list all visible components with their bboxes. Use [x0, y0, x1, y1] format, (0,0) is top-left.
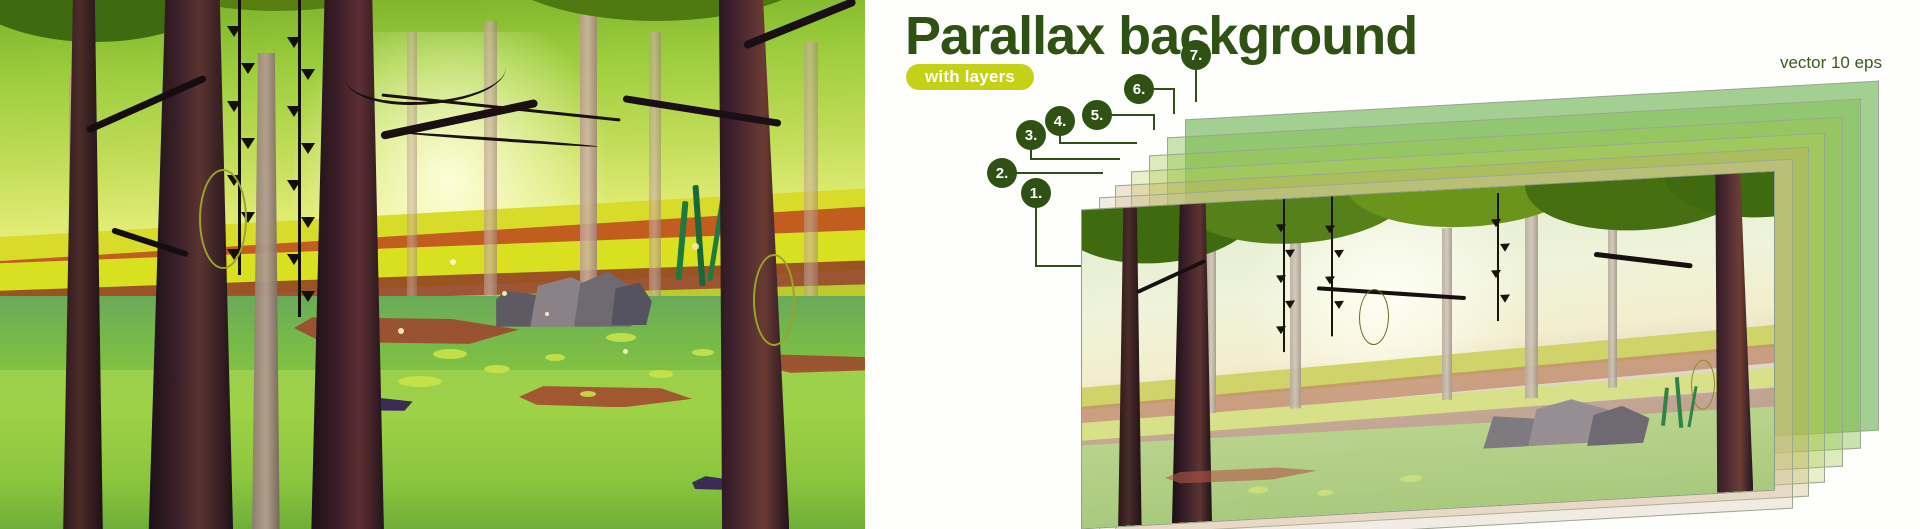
leader-line-7: [1195, 66, 1197, 102]
vine-leaf: [227, 26, 241, 37]
preview-vine-leaf: [1276, 275, 1286, 284]
preview-far-trunk: [1442, 228, 1452, 400]
layer-marker-7-label: 7.: [1190, 48, 1203, 63]
vine-leaf: [301, 291, 315, 302]
leader-line-6: [1151, 88, 1175, 90]
vine-leaf: [227, 101, 241, 112]
preview-vine-leaf: [1334, 250, 1344, 259]
preview-vine-leaf: [1276, 326, 1286, 335]
layer-stack: 1. 2. 3. 4. 5.: [985, 82, 1920, 502]
layer-marker-6[interactable]: 6.: [1124, 74, 1154, 104]
lily-pad: [398, 376, 442, 387]
vine-leaf: [301, 217, 315, 228]
far-trunk: [649, 32, 661, 297]
vine-leaf: [301, 69, 315, 80]
vine-leaf: [287, 106, 301, 117]
layer-marker-7[interactable]: 7.: [1181, 40, 1211, 70]
parallax-background-preview: Parallax background with layers vector 1…: [0, 0, 1920, 529]
preview-vine-leaf: [1285, 300, 1295, 309]
layer-marker-5-label: 5.: [1091, 108, 1104, 123]
page-title: Parallax background: [905, 8, 1417, 65]
leader-line-4: [1059, 142, 1137, 144]
vine-leaf: [301, 143, 315, 154]
layer-marker-3-label: 3.: [1025, 128, 1038, 143]
leader-line-3: [1030, 158, 1120, 160]
preview-vine-leaf: [1276, 224, 1286, 233]
far-trunk: [804, 42, 818, 296]
preview-vine-leaf: [1491, 219, 1501, 228]
info-panel: Parallax background with layers vector 1…: [865, 0, 1920, 529]
vine-leaf: [287, 180, 301, 191]
preview-vine-leaf: [1325, 276, 1335, 285]
light-particle: [502, 291, 507, 296]
rock-cluster: [493, 259, 649, 328]
preview-far-trunk: [1525, 213, 1538, 398]
format-label: vector 10 eps: [1780, 53, 1882, 73]
light-particle: [398, 328, 404, 334]
leader-line-1: [1035, 207, 1037, 267]
layer-marker-4[interactable]: 4.: [1045, 106, 1075, 136]
layer-sheet-1-preview[interactable]: [1081, 171, 1775, 529]
preview-vine-leaf: [1325, 225, 1335, 234]
leader-line-5: [1153, 114, 1155, 130]
light-particle: [450, 259, 456, 265]
layer-marker-2[interactable]: 2.: [987, 158, 1017, 188]
layer-marker-5[interactable]: 5.: [1082, 100, 1112, 130]
preview-vine-leaf: [1500, 295, 1510, 304]
layer-marker-3[interactable]: 3.: [1016, 120, 1046, 150]
vine-leaf: [287, 254, 301, 265]
layer-marker-6-label: 6.: [1133, 82, 1146, 97]
preview-vine-leaf: [1500, 244, 1510, 253]
layer-marker-1-label: 1.: [1030, 186, 1043, 201]
preview-hanging-vine: [1497, 193, 1499, 320]
preview-hanging-vine: [1331, 196, 1333, 336]
leader-line-5: [1111, 114, 1155, 116]
preview-far-trunk: [1608, 222, 1617, 388]
rope-vine-loop: [199, 169, 247, 269]
vine-leaf: [287, 37, 301, 48]
hero-illustration: [0, 0, 865, 529]
layer-marker-4-label: 4.: [1054, 114, 1067, 129]
leader-line-6: [1173, 88, 1175, 114]
preview-vine-leaf: [1491, 270, 1501, 279]
rope-vine-loop: [753, 254, 795, 346]
vine-leaf: [241, 63, 255, 74]
leader-line-1: [1035, 265, 1081, 267]
layer-marker-2-label: 2.: [996, 166, 1009, 181]
lily-pad: [433, 349, 467, 359]
vine-leaf: [241, 138, 255, 149]
layer-marker-1[interactable]: 1.: [1021, 178, 1051, 208]
preview-vine-leaf: [1285, 249, 1295, 258]
preview-vine-leaf: [1334, 301, 1344, 310]
light-particle: [623, 349, 628, 354]
